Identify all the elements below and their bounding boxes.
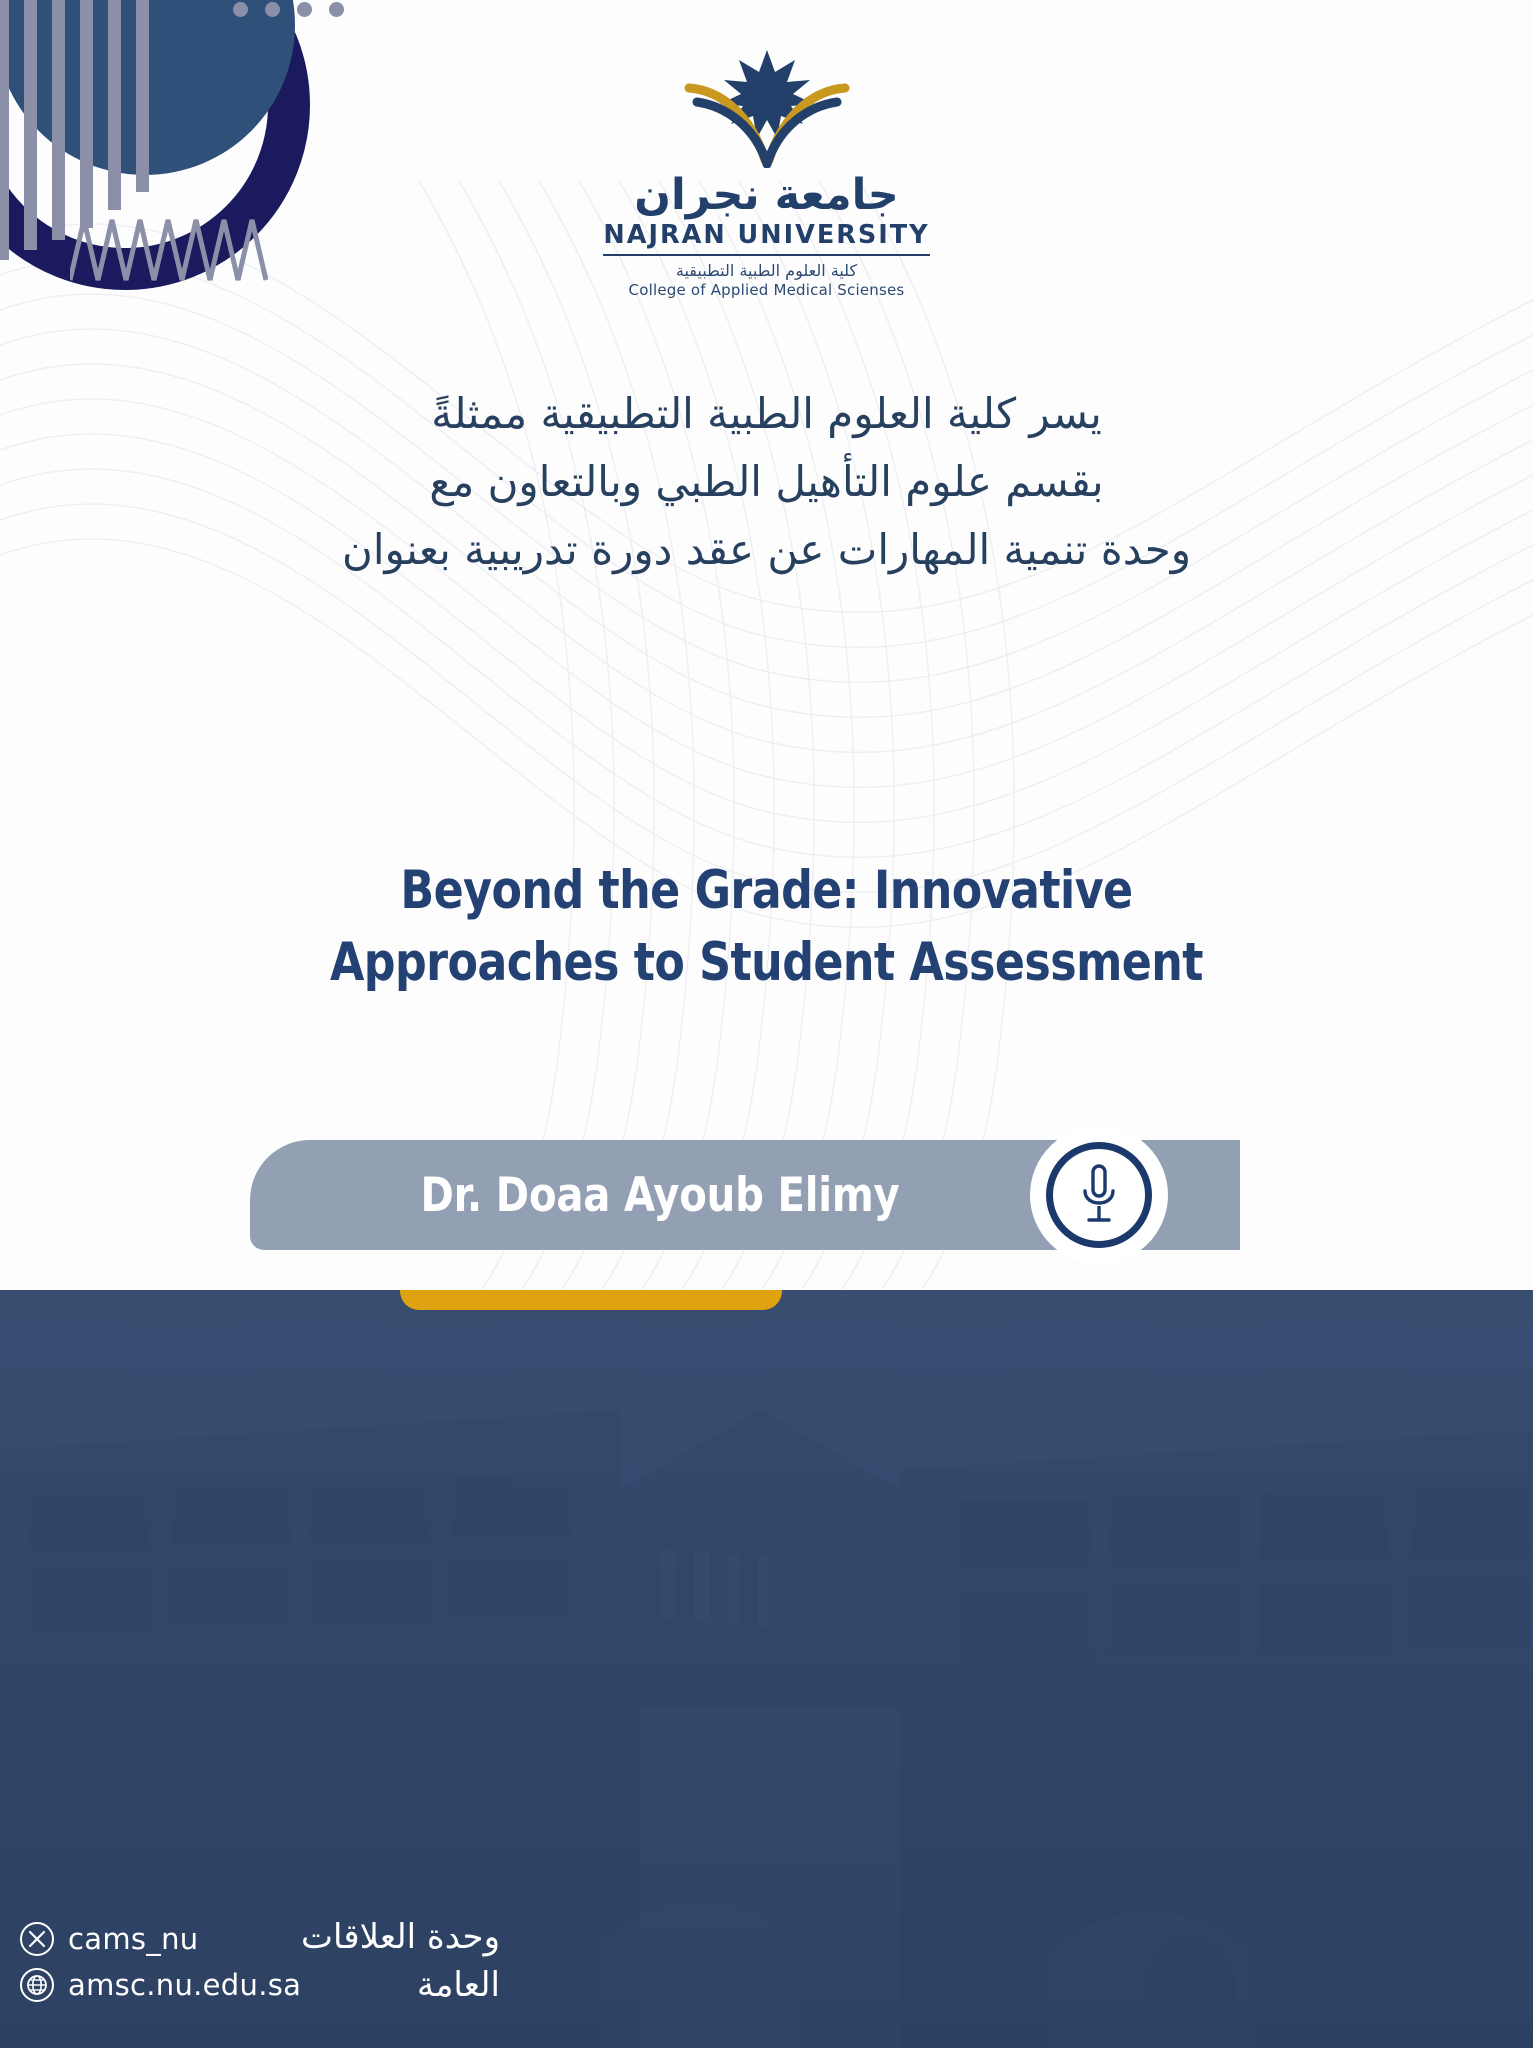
footer-unit-line-2: العامة: [200, 1962, 500, 2010]
globe-icon: [20, 1968, 54, 2002]
logo-university-name-en: NAJRAN UNIVERSITY: [603, 220, 929, 256]
footer-unit-line-1: وحدة العلاقات: [200, 1914, 500, 1962]
intro-line-3: وحدة تنمية المهارات عن عقد دورة تدريبية …: [120, 516, 1413, 584]
speaker-mic-badge: [1030, 1126, 1168, 1264]
top-left-decoration: [0, 0, 460, 360]
arabic-intro-text: يسر كلية العلوم الطبية التطبيقية ممثلةً …: [120, 380, 1413, 584]
intro-line-1: يسر كلية العلوم الطبية التطبيقية ممثلةً: [120, 380, 1413, 448]
gold-accent-bar: [400, 1290, 782, 1310]
speaker-name: Dr. Doaa Ayoub Elimy: [328, 1140, 993, 1250]
footer-x-handle: cams_nu: [68, 1922, 198, 1956]
course-title: Beyond the Grade: Innovative Approaches …: [184, 855, 1349, 998]
decorative-dot-grid: [233, 0, 373, 10]
university-logo: جامعة نجران NAJRAN UNIVERSITY كلية العلو…: [597, 48, 937, 299]
palm-and-swords-emblem-icon: [667, 48, 867, 168]
x-twitter-icon: [20, 1922, 54, 1956]
logo-college-name-ar: كلية العلوم الطبية التطبيقية: [597, 261, 937, 280]
footer-unit-name: وحدة العلاقات العامة: [200, 1914, 500, 2009]
course-title-line-1: Beyond the Grade: Innovative: [184, 855, 1349, 927]
microphone-icon: [1046, 1142, 1152, 1248]
decorative-zigzag: [70, 210, 290, 290]
logo-university-name-ar: جامعة نجران: [597, 174, 937, 217]
poster-canvas: جامعة نجران NAJRAN UNIVERSITY كلية العلو…: [0, 0, 1533, 2048]
speaker-banner: Dr. Doaa Ayoub Elimy: [250, 1140, 1240, 1250]
course-title-line-2: Approaches to Student Assessment: [184, 927, 1349, 999]
intro-line-2: بقسم علوم التأهيل الطبي وبالتعاون مع: [120, 448, 1413, 516]
logo-college-name-en: College of Applied Medical Scienses: [597, 281, 937, 299]
poster-footer: cams_nu amsc.nu.edu.sa وحدة العلاقات الع…: [0, 1888, 1533, 2048]
